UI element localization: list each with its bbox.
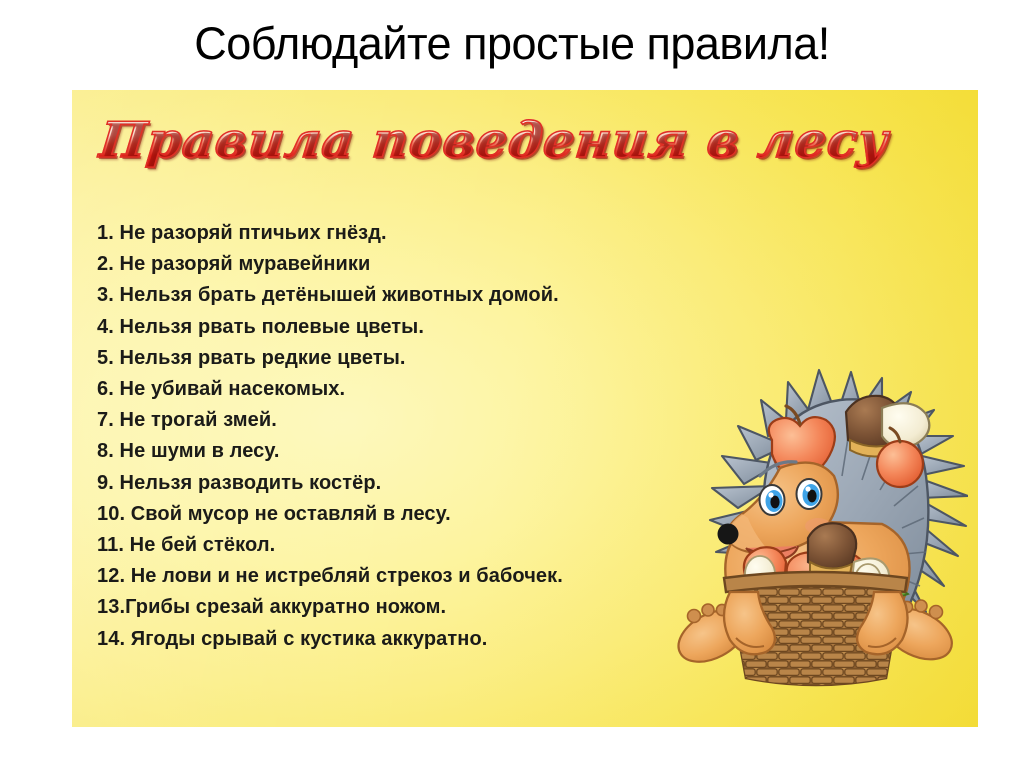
rule-item: 4. Нельзя рвать полевые цветы. <box>97 312 837 343</box>
hedgehog-illustration <box>668 348 968 693</box>
poster-panel: Правила поведения в лесу 1. Не разоряй п… <box>72 90 978 727</box>
rule-item: 1. Не разоряй птичьих гнёзд. <box>97 218 837 249</box>
rule-item: 3. Нельзя брать детёнышей животных домой… <box>97 280 837 311</box>
page-title: Соблюдайте простые правила! <box>0 17 1024 71</box>
rule-item: 2. Не разоряй муравейники <box>97 249 837 280</box>
hedgehog-nose <box>718 524 739 545</box>
hedgehog-eye-right <box>797 479 822 509</box>
hedgehog-eye-left <box>760 485 785 515</box>
poster-heading: Правила поведения в лесу <box>97 108 892 172</box>
hedgehog-icon <box>668 348 968 693</box>
